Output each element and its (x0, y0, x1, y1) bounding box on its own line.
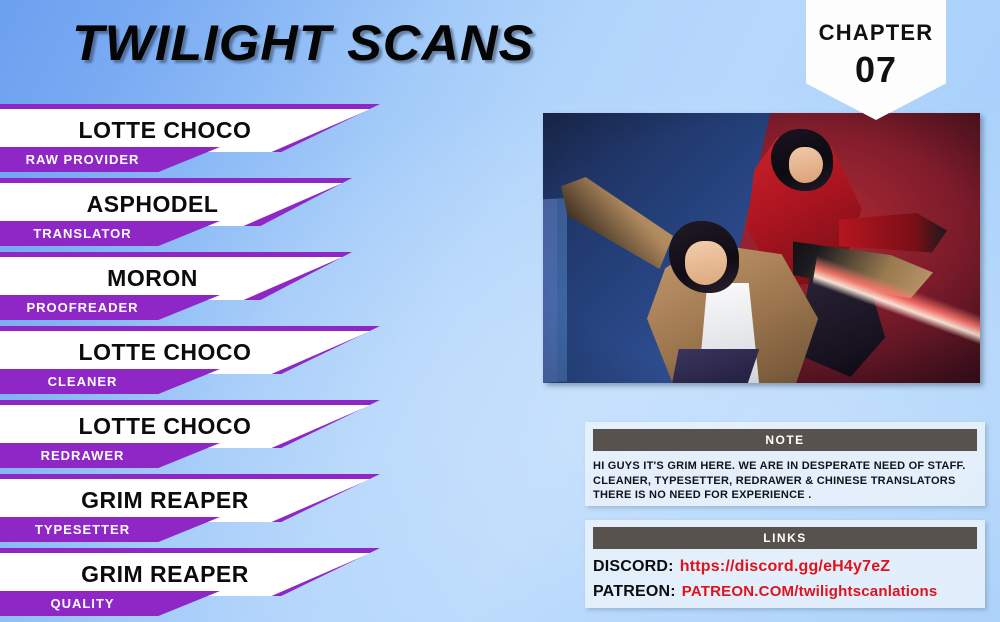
credit-name-plate: LOTTE CHOCO (0, 104, 380, 152)
credit-name: LOTTE CHOCO (0, 413, 330, 440)
credit-role-plate: QUALITY (0, 591, 220, 616)
credit-row: LOTTE CHOCO CLEANER (0, 326, 420, 400)
patreon-url[interactable]: PATREON.COM/twilightscanlations (682, 583, 938, 600)
credit-name: GRIM REAPER (0, 487, 330, 514)
chapter-number: 07 (806, 49, 946, 91)
credit-role: CLEANER (0, 374, 165, 389)
credit-role: TYPESETTER (0, 522, 165, 537)
credit-name: LOTTE CHOCO (0, 117, 330, 144)
credit-role: TRANSLATOR (0, 226, 165, 241)
patreon-link-row[interactable]: PATREON: PATREON.COM/twilightscanlations (593, 583, 977, 601)
page-title: TWILIGHT SCANS (72, 14, 534, 72)
chapter-artwork (543, 113, 980, 383)
links-box: LINKS DISCORD: https://discord.gg/eH4y7e… (585, 520, 985, 608)
credit-role-plate: RAW PROVIDER (0, 147, 220, 172)
credit-role: REDRAWER (0, 448, 165, 463)
artwork-vignette (543, 113, 980, 383)
credit-name-plate: MORON (0, 252, 352, 300)
patreon-label: PATREON: (593, 583, 676, 601)
credits-page: TWILIGHT SCANS CHAPTER 07 LOTTE CHOCO RA… (0, 0, 1000, 622)
credit-name: GRIM REAPER (0, 561, 330, 588)
credits-list: LOTTE CHOCO RAW PROVIDER ASPHODEL TRANSL… (0, 104, 420, 622)
note-body: HI GUYS IT'S GRIM HERE. WE ARE IN DESPER… (593, 459, 977, 503)
credit-row: GRIM REAPER QUALITY (0, 548, 420, 622)
note-header: NOTE (593, 429, 977, 451)
discord-url[interactable]: https://discord.gg/eH4y7eZ (680, 558, 891, 576)
credit-role: RAW PROVIDER (0, 152, 165, 167)
credit-role-plate: TYPESETTER (0, 517, 220, 542)
credit-name-plate: GRIM REAPER (0, 548, 380, 596)
credit-name: ASPHODEL (0, 191, 305, 218)
note-box: NOTE HI GUYS IT'S GRIM HERE. WE ARE IN D… (585, 422, 985, 506)
credit-role: QUALITY (0, 596, 165, 611)
credit-role: PROOFREADER (0, 300, 165, 315)
credit-name-plate: GRIM REAPER (0, 474, 380, 522)
credit-role-plate: CLEANER (0, 369, 220, 394)
credit-row: GRIM REAPER TYPESETTER (0, 474, 420, 548)
links-header: LINKS (593, 527, 977, 549)
credit-role-plate: REDRAWER (0, 443, 220, 468)
chapter-badge: CHAPTER 07 (806, 0, 946, 120)
credit-row: ASPHODEL TRANSLATOR (0, 178, 420, 252)
credit-role-plate: TRANSLATOR (0, 221, 220, 246)
credit-name: LOTTE CHOCO (0, 339, 330, 366)
discord-link-row[interactable]: DISCORD: https://discord.gg/eH4y7eZ (593, 558, 977, 576)
links-body: DISCORD: https://discord.gg/eH4y7eZ PATR… (593, 558, 977, 601)
credit-role-plate: PROOFREADER (0, 295, 220, 320)
discord-label: DISCORD: (593, 558, 674, 576)
credit-name: MORON (0, 265, 305, 292)
credit-name-plate: LOTTE CHOCO (0, 400, 380, 448)
chapter-label: CHAPTER (806, 20, 946, 46)
credit-row: MORON PROOFREADER (0, 252, 420, 326)
credit-row: LOTTE CHOCO RAW PROVIDER (0, 104, 420, 178)
credit-row: LOTTE CHOCO REDRAWER (0, 400, 420, 474)
credit-name-plate: LOTTE CHOCO (0, 326, 380, 374)
credit-name-plate: ASPHODEL (0, 178, 352, 226)
